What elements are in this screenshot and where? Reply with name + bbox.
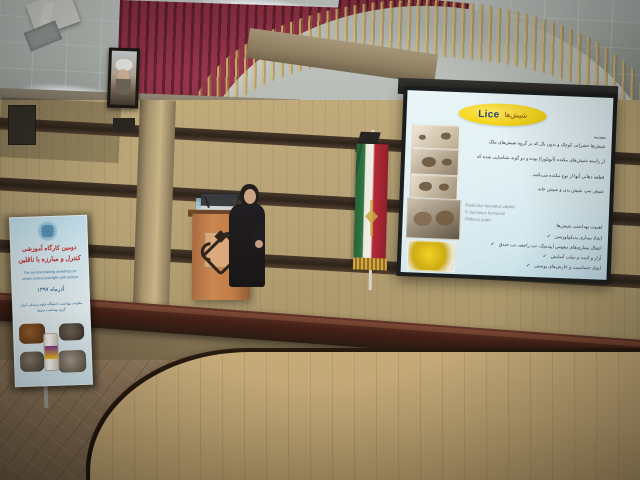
banner-organizer-line2: گروه بهداشت محیط — [13, 307, 89, 314]
presentation-slide: شپش‌ها Lice مقدمه شپش‌ها حشراتی کوچک و ب… — [401, 90, 614, 280]
portrait-beard — [115, 79, 131, 96]
spray-can-label — [45, 346, 58, 359]
banner-image-rodent — [59, 323, 85, 341]
banner-title-line1: دومین کارگاه آموزشی — [11, 244, 87, 254]
slide-image-louse-microscopy — [406, 198, 461, 240]
portrait-image — [110, 51, 137, 106]
banner-image-cockroach — [19, 323, 46, 344]
slide-paragraph-4: شپش سر، شپش بدن و شپش عانه — [464, 182, 604, 195]
flag-fringe — [353, 257, 387, 270]
slide-title-en: Lice — [478, 108, 500, 120]
slide-image-louse-illustration — [407, 240, 456, 272]
slide-image-head-louse — [411, 124, 460, 150]
stage-apron — [90, 352, 640, 480]
lecture-hall-photo: شپش‌ها Lice مقدمه شپش‌ها حشراتی کوچک و ب… — [0, 0, 640, 480]
wall-speaker — [113, 118, 135, 132]
banner-image-rat — [58, 350, 87, 373]
slide-paragraph-3: قطعه دهانی آنها از نوع مکنده می‌باشد. — [464, 168, 604, 181]
workshop-banner: دومین کارگاه آموزشی کنترل و مبارزه با نا… — [9, 215, 93, 388]
projection-screen-frame: شپش‌ها Lice مقدمه شپش‌ها حشراتی کوچک و ب… — [396, 86, 617, 284]
banner-image-spray-can — [43, 333, 59, 372]
university-logo-icon — [36, 221, 59, 242]
slide-image-pubic-louse — [409, 174, 458, 200]
banner-pest-images — [17, 320, 89, 380]
logo-inner-mark — [41, 225, 53, 237]
latin-name-2: Phthirus pubis — [465, 216, 492, 223]
wall-mounted-box — [8, 105, 36, 145]
slide-paragraph-2: از راسته شپش‌های مکنده (آنوپلورا) بوده و… — [465, 152, 605, 165]
projection-screen: شپش‌ها Lice مقدمه شپش‌ها حشراتی کوچک و ب… — [401, 90, 614, 280]
framed-portrait — [107, 47, 140, 108]
slide-title-fa: شپش‌ها — [504, 111, 527, 120]
slide-bullets: ایجاد بیماری پدیکولوزیس انتقال بیماری‌ها… — [461, 228, 602, 273]
banner-title-line2: کنترل و مبارزه با ناقلین — [11, 254, 87, 265]
banner-image-mouse — [20, 351, 45, 372]
banner-date: آذرماه ۱۳۹۷ — [13, 286, 89, 295]
speaker-face — [244, 189, 256, 204]
slide-image-body-louse — [410, 148, 459, 176]
speaker-hand — [255, 240, 263, 248]
water-bottle — [196, 198, 201, 209]
slide-title-bubble: شپش‌ها Lice — [458, 102, 547, 127]
banner-subtitle-en-line2: vector control and fight with vectors — [15, 275, 85, 281]
apron-wood-grain — [90, 352, 640, 480]
